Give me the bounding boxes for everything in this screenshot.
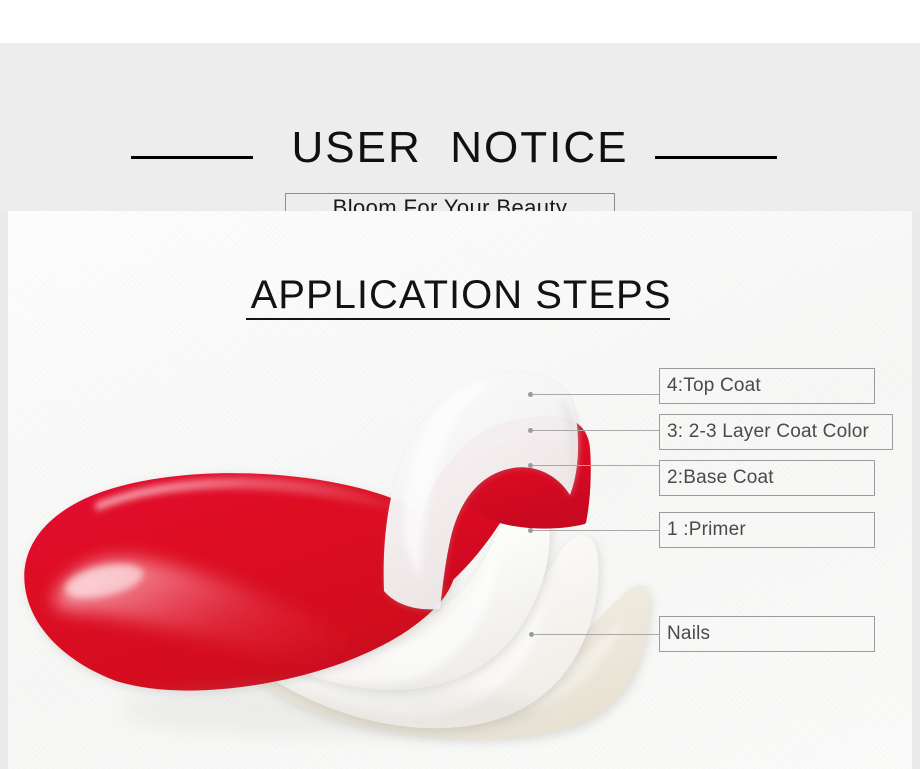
callout-label-nails: Nails	[667, 624, 710, 645]
callout-label-base-coat: 2:Base Coat	[667, 468, 774, 489]
page-title: USER NOTICE	[0, 121, 920, 175]
callout-layer-color[interactable]: 3: 2-3 Layer Coat Color	[659, 414, 893, 450]
callout-label-primer: 1 :Primer	[667, 520, 746, 541]
leader-line-primer	[531, 530, 659, 531]
callout-nails[interactable]: Nails	[659, 616, 875, 652]
top-spacer	[0, 0, 920, 43]
user-notice-page: USER NOTICE Bloom For Your Beauty APPLIC…	[0, 0, 920, 769]
leader-line-layer-color	[531, 430, 659, 431]
callout-label-layer-color: 3: 2-3 Layer Coat Color	[667, 422, 869, 443]
title-row: USER NOTICE	[0, 121, 920, 177]
callout-top-coat[interactable]: 4:Top Coat	[659, 368, 875, 404]
callout-label-top-coat: 4:Top Coat	[667, 376, 761, 397]
leader-line-base-coat	[531, 465, 659, 466]
callout-base-coat[interactable]: 2:Base Coat	[659, 460, 875, 496]
section-heading-underline	[246, 318, 670, 320]
leader-line-top-coat	[531, 394, 659, 395]
section-heading: APPLICATION STEPS	[246, 272, 676, 318]
leader-line-nails	[532, 634, 659, 635]
header-band: USER NOTICE Bloom For Your Beauty	[0, 43, 920, 211]
callout-primer[interactable]: 1 :Primer	[659, 512, 875, 548]
